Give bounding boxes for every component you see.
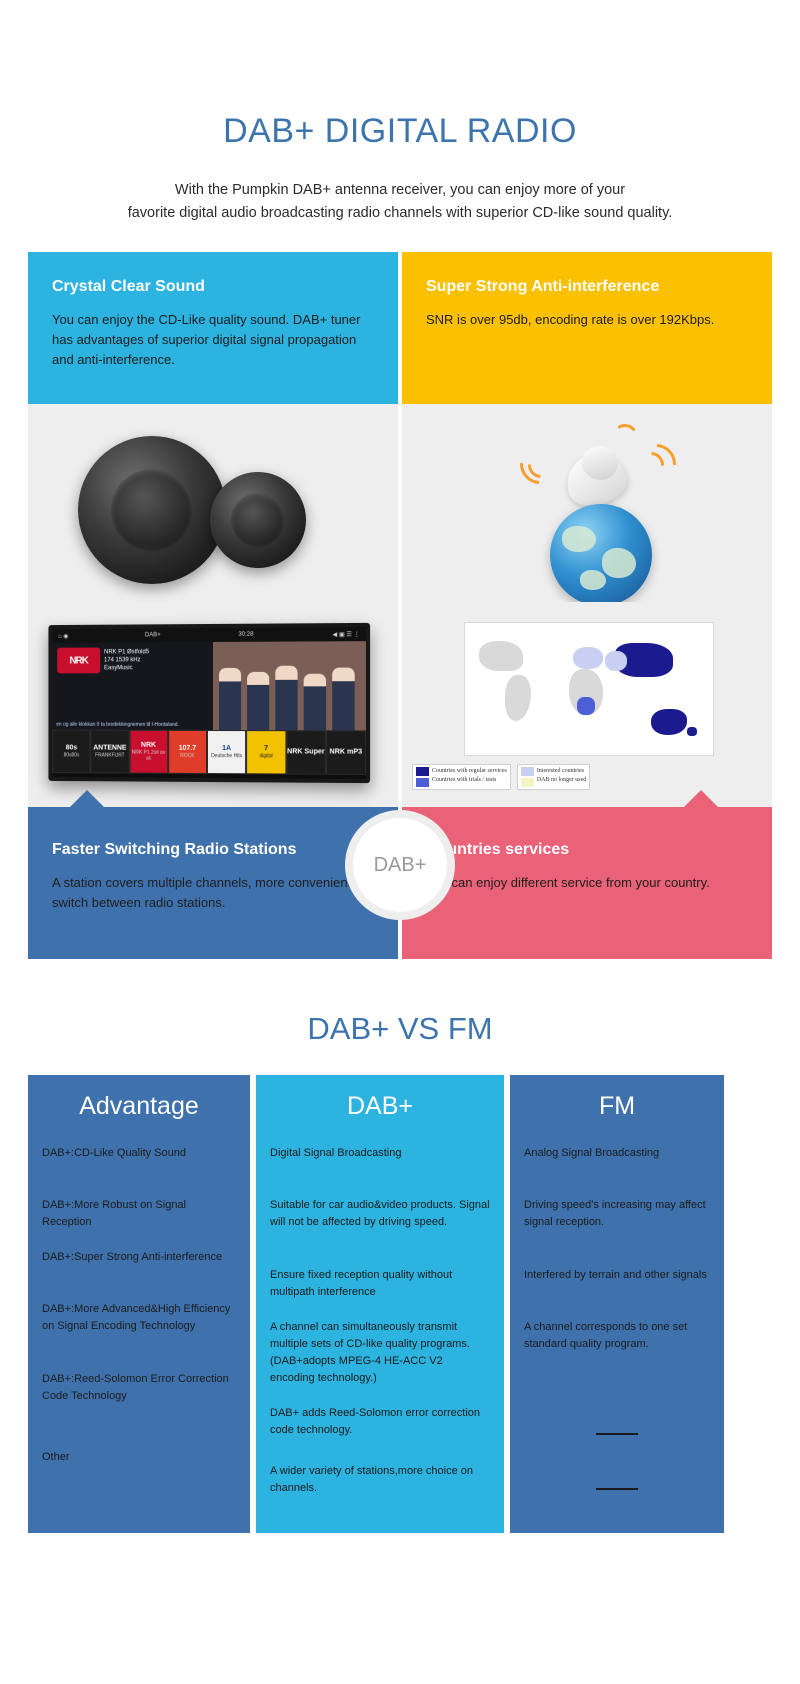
card-notch-icon <box>684 790 718 807</box>
track-line-2: 174 1539 kHz <box>104 656 149 664</box>
faster-switching-card: Faster Switching Radio Stations A statio… <box>28 807 398 959</box>
column-body-fm: Analog Signal Broadcasting Driving speed… <box>510 1137 724 1533</box>
preset-label: NRK <box>141 742 156 750</box>
table-row: Analog Signal Broadcasting <box>524 1145 710 1197</box>
map-region-south-africa <box>577 697 595 715</box>
globe-landmass <box>580 570 606 590</box>
radio-preset: ANTENNE FRANKFURT <box>91 730 130 774</box>
table-row: Suitable for car audio&video products. S… <box>270 1197 490 1267</box>
legend-swatches <box>521 767 534 787</box>
map-legend: Countries with regular services Countrie… <box>412 764 764 790</box>
album-art-figure <box>332 668 354 731</box>
feature-row-bottom-images: ⌂ ◉ DAB+ 30:28 ◀ ▣ ☰ ⋮ NRK NRK P1 Østfol… <box>28 602 772 807</box>
radio-preset: NRK Super <box>286 730 326 775</box>
world-map-illustration: Countries with regular services Countrie… <box>402 602 772 807</box>
signal-wave-icon <box>610 422 640 452</box>
table-row: DAB+:More Robust on Signal Reception <box>42 1197 236 1249</box>
radio-preset: 107.7 ROCK <box>168 730 207 774</box>
speaker-image-panel <box>28 404 398 602</box>
speaker-large-icon <box>78 436 226 584</box>
countries-services-card: Countries services You can enjoy differe… <box>402 807 772 959</box>
radio-tray-icons: ◀ ▣ ☰ ⋮ <box>332 631 359 638</box>
track-line-3: EasyMusic <box>104 664 149 672</box>
table-row: A channel can simultaneously transmit mu… <box>270 1319 490 1405</box>
subtitle-line-1: With the Pumpkin DAB+ antenna receiver, … <box>48 179 752 202</box>
globe-icon <box>550 504 652 602</box>
world-map-image-panel: Countries with regular services Countrie… <box>402 602 772 807</box>
radio-home-icon: ⌂ ◉ <box>58 632 68 639</box>
radio-preset-row: 80s 80s80s ANTENNE FRANKFURT NRK NRK P1 … <box>52 730 366 775</box>
feature-grid: Crystal Clear Sound You can enjoy the CD… <box>28 252 772 959</box>
countries-services-body: You can enjoy different service from you… <box>426 873 748 893</box>
table-row: DAB+:CD-Like Quality Sound <box>42 1145 236 1197</box>
legend-swatch-interested-icon <box>521 767 534 776</box>
car-radio-image-panel: ⌂ ◉ DAB+ 30:28 ◀ ▣ ☰ ⋮ NRK NRK P1 Østfol… <box>28 602 398 807</box>
legend-label-trials: Countries with trials / tests <box>432 776 507 785</box>
comparison-title: DAB+ VS FM <box>0 1011 800 1047</box>
legend-swatches <box>416 767 429 787</box>
map-region-europe <box>573 647 603 669</box>
feature-card-countries-services: Countries services You can enjoy differe… <box>402 807 772 959</box>
preset-label: NRK Super <box>287 748 325 756</box>
preset-sublabel: FRANKFURT <box>95 753 125 759</box>
satellite-globe-icon <box>520 418 690 593</box>
world-map-icon <box>464 622 714 756</box>
album-art-figure <box>219 668 241 730</box>
column-header-dab: DAB+ <box>256 1075 504 1137</box>
feature-row-top-text: Crystal Clear Sound You can enjoy the CD… <box>28 252 772 404</box>
table-row: Other <box>42 1423 236 1483</box>
table-row-dash <box>524 1405 710 1463</box>
table-row: DAB+:Super Strong Anti-interference <box>42 1249 236 1301</box>
album-art-figure <box>304 674 326 731</box>
feature-card-faster-switching: Faster Switching Radio Stations A statio… <box>28 807 398 959</box>
legend-label-interested: Interested countries <box>537 767 587 776</box>
preset-sublabel: Deutsche Hits <box>211 753 242 759</box>
preset-sublabel: 80s80s <box>64 752 80 758</box>
satellite-image-panel <box>402 404 772 602</box>
radio-preset: NRK mP3 <box>326 730 366 775</box>
feature-card-crystal-clear-sound: Crystal Clear Sound You can enjoy the CD… <box>28 252 398 404</box>
map-region-north-america <box>479 641 523 671</box>
legend-labels: Countries with regular services Countrie… <box>432 767 507 787</box>
infographic-page: DAB+ DIGITAL RADIO With the Pumpkin DAB+… <box>0 0 800 1684</box>
album-art-figure <box>247 672 269 730</box>
speaker-small-icon <box>210 472 306 568</box>
preset-label: 80s <box>66 744 77 752</box>
legend-label-no-longer-used: DAB no longer used <box>537 776 587 785</box>
table-row: DAB+ adds Reed-Solomon error correction … <box>270 1405 490 1463</box>
column-header-advantage: Advantage <box>28 1075 250 1137</box>
table-row-dash <box>524 1463 710 1515</box>
radio-brand-label: DAB+ <box>145 632 161 638</box>
globe-landmass <box>602 548 636 578</box>
page-title: DAB+ DIGITAL RADIO <box>0 0 800 151</box>
radio-preset: 7 digital <box>246 730 286 774</box>
comparison-column-advantage: Advantage DAB+:CD-Like Quality Sound DAB… <box>28 1075 250 1533</box>
crystal-clear-sound-body: You can enjoy the CD-Like quality sound.… <box>52 310 374 370</box>
map-region-middle-east <box>605 651 627 671</box>
preset-label: ANTENNE <box>93 745 126 753</box>
countries-services-title: Countries services <box>426 841 748 859</box>
subtitle-line-2: favorite digital audio broadcasting radi… <box>48 202 752 225</box>
anti-interference-body: SNR is over 95db, encoding rate is over … <box>426 310 748 330</box>
legend-labels: Interested countries DAB no longer used <box>537 767 587 787</box>
feature-card-anti-interference: Super Strong Anti-interference SNR is ov… <box>402 252 772 404</box>
preset-label: 7 <box>264 745 268 753</box>
faster-switching-title: Faster Switching Radio Stations <box>52 841 374 859</box>
faster-switching-body: A station covers multiple channels, more… <box>52 873 374 913</box>
radio-ticker-text: en og alle klokkan 9 ta bredekkingnemen … <box>56 722 209 728</box>
legend-label-regular-services: Countries with regular services <box>432 767 507 776</box>
speaker-illustration <box>28 404 398 602</box>
radio-time-label: 30:28 <box>238 632 253 638</box>
radio-track-info: NRK P1 Østfold5 174 1539 kHz EasyMusic <box>104 648 149 672</box>
legend-group-secondary: Interested countries DAB no longer used <box>517 764 591 790</box>
dab-plus-badge: DAB+ <box>345 810 455 920</box>
map-region-south-america <box>505 675 531 721</box>
page-subtitle: With the Pumpkin DAB+ antenna receiver, … <box>0 179 800 225</box>
table-row: A wider variety of stations,more choice … <box>270 1463 490 1515</box>
column-body-advantage: DAB+:CD-Like Quality Sound DAB+:More Rob… <box>28 1137 250 1501</box>
preset-sublabel: NRK P1 2sit av sk <box>130 750 167 762</box>
car-radio-icon: ⌂ ◉ DAB+ 30:28 ◀ ▣ ☰ ⋮ NRK NRK P1 Østfol… <box>48 623 370 783</box>
comparison-column-fm: FM Analog Signal Broadcasting Driving sp… <box>510 1075 724 1533</box>
globe-landmass <box>562 526 596 552</box>
preset-sublabel: digital <box>259 753 272 759</box>
dash-icon <box>596 1433 638 1435</box>
anti-interference-card: Super Strong Anti-interference SNR is ov… <box>402 252 772 404</box>
table-row: Driving speed's increasing may affect si… <box>524 1197 710 1267</box>
table-row: Interfered by terrain and other signals <box>524 1267 710 1319</box>
preset-label: 107.7 <box>179 745 196 753</box>
preset-sublabel: ROCK <box>180 753 194 759</box>
column-body-dab: Digital Signal Broadcasting Suitable for… <box>256 1137 504 1533</box>
comparison-table: Advantage DAB+:CD-Like Quality Sound DAB… <box>28 1075 772 1533</box>
crystal-clear-sound-title: Crystal Clear Sound <box>52 278 374 296</box>
legend-swatch-no-longer-used-icon <box>521 778 534 787</box>
crystal-clear-sound-card: Crystal Clear Sound You can enjoy the CD… <box>28 252 398 404</box>
legend-swatch-trials-icon <box>416 778 429 787</box>
table-row: A channel corresponds to one set standar… <box>524 1319 710 1405</box>
radio-preset: 80s 80s80s <box>52 730 90 774</box>
anti-interference-title: Super Strong Anti-interference <box>426 278 748 296</box>
comparison-column-dab: DAB+ Digital Signal Broadcasting Suitabl… <box>256 1075 504 1533</box>
legend-swatch-regular-services-icon <box>416 767 429 776</box>
radio-album-art <box>213 641 366 730</box>
preset-label: 1A <box>222 745 231 753</box>
table-row: Ensure fixed reception quality without m… <box>270 1267 490 1319</box>
legend-group-primary: Countries with regular services Countrie… <box>412 764 511 790</box>
map-region-new-zealand <box>687 727 697 736</box>
radio-preset: NRK NRK P1 2sit av sk <box>129 730 168 774</box>
preset-label: NRK mP3 <box>330 748 363 756</box>
table-row: DAB+:Reed-Solomon Error Correction Code … <box>42 1371 236 1423</box>
column-header-fm: FM <box>510 1075 724 1137</box>
satellite-globe-illustration <box>402 404 772 602</box>
album-art-figure <box>276 666 298 731</box>
radio-main-area: NRK NRK P1 Østfold5 174 1539 kHz EasyMus… <box>52 641 366 730</box>
track-line-1: NRK P1 Østfold5 <box>104 648 149 656</box>
radio-now-playing: NRK NRK P1 Østfold5 174 1539 kHz EasyMus… <box>52 642 213 730</box>
map-region-australia <box>651 709 687 735</box>
table-row: DAB+:More Advanced&High Efficiency on Si… <box>42 1301 236 1371</box>
car-radio-illustration: ⌂ ◉ DAB+ 30:28 ◀ ▣ ☰ ⋮ NRK NRK P1 Østfol… <box>28 602 398 807</box>
station-logo-icon: NRK <box>57 648 100 674</box>
feature-row-top-images <box>28 404 772 602</box>
dash-icon <box>596 1488 638 1490</box>
radio-preset: 1A Deutsche Hits <box>207 730 246 774</box>
table-row: Digital Signal Broadcasting <box>270 1145 490 1197</box>
card-notch-icon <box>70 790 104 807</box>
